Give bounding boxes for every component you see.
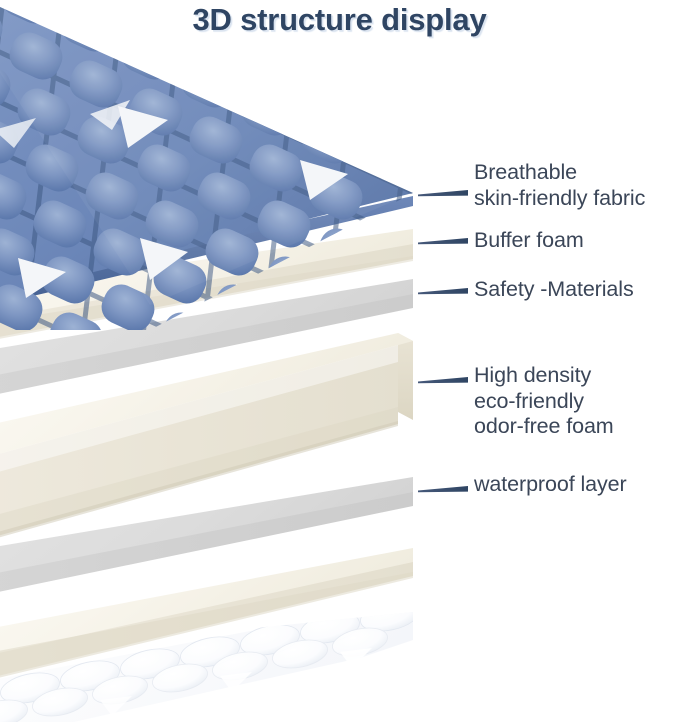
callout-safety-materials: Safety -Materials bbox=[474, 277, 634, 303]
callout-buffer-foam: Buffer foam bbox=[474, 228, 584, 254]
layer-stack-illustration bbox=[0, 0, 679, 722]
leader-line-safety-materials bbox=[418, 288, 468, 294]
diagram-canvas: 3D structure display bbox=[0, 0, 679, 722]
leader-line-waterproof-layer bbox=[418, 486, 468, 492]
callout-breathable-fabric: Breathable skin-friendly fabric bbox=[474, 160, 645, 211]
callout-waterproof-layer: waterproof layer bbox=[474, 472, 627, 498]
leader-line-buffer-foam bbox=[418, 238, 468, 244]
leader-line-breathable-fabric bbox=[418, 190, 468, 196]
callout-leader-lines bbox=[418, 190, 468, 492]
callout-high-density-foam: High density eco-friendly odor-free foam bbox=[474, 363, 614, 440]
leader-line-high-density-foam bbox=[418, 377, 468, 383]
